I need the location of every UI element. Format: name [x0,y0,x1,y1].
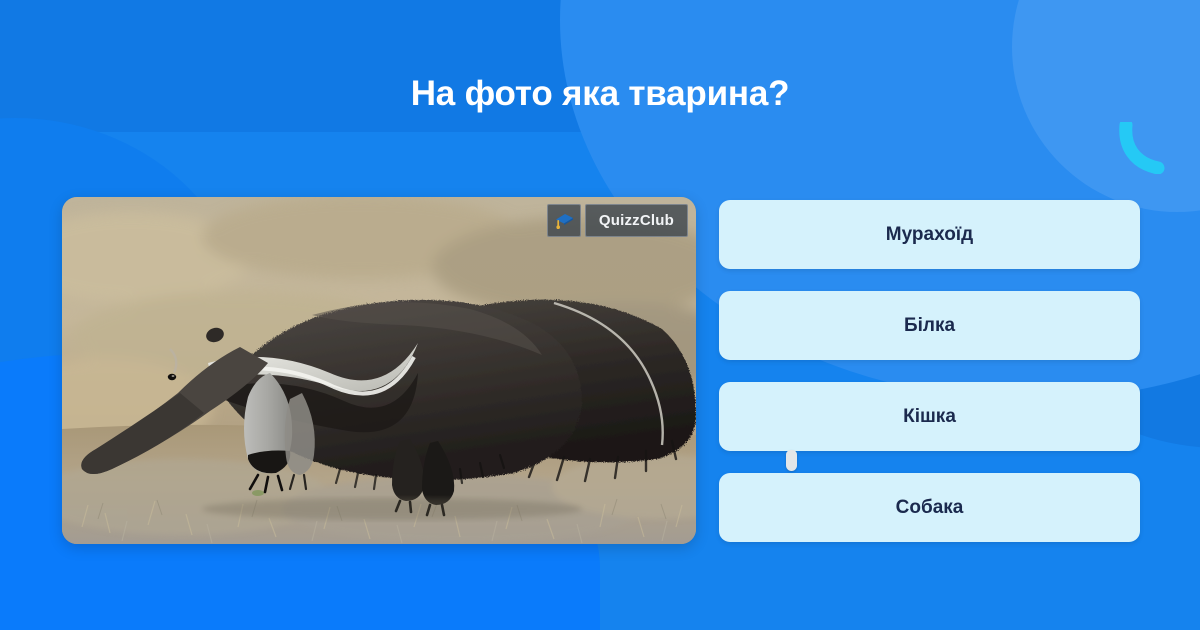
watermark: QuizzClub [547,204,688,237]
graduation-cap-icon [547,204,581,237]
answer-option-4[interactable]: Собака [719,473,1140,542]
scroll-handle[interactable] [786,450,797,471]
answer-option-2[interactable]: Білка [719,291,1140,360]
answer-list: Мурахоїд Білка Кішка Собака [719,200,1140,542]
answer-option-1[interactable]: Мурахоїд [719,200,1140,269]
cyan-swoosh-icon [1118,122,1180,174]
anteater-photo [62,197,696,544]
watermark-brand: QuizzClub [585,204,688,237]
question-photo-card: QuizzClub [62,197,696,544]
page-title: На фото яка тварина? [0,73,1200,115]
answer-option-3[interactable]: Кішка [719,382,1140,451]
quiz-card: На фото яка тварина? [0,0,1200,630]
